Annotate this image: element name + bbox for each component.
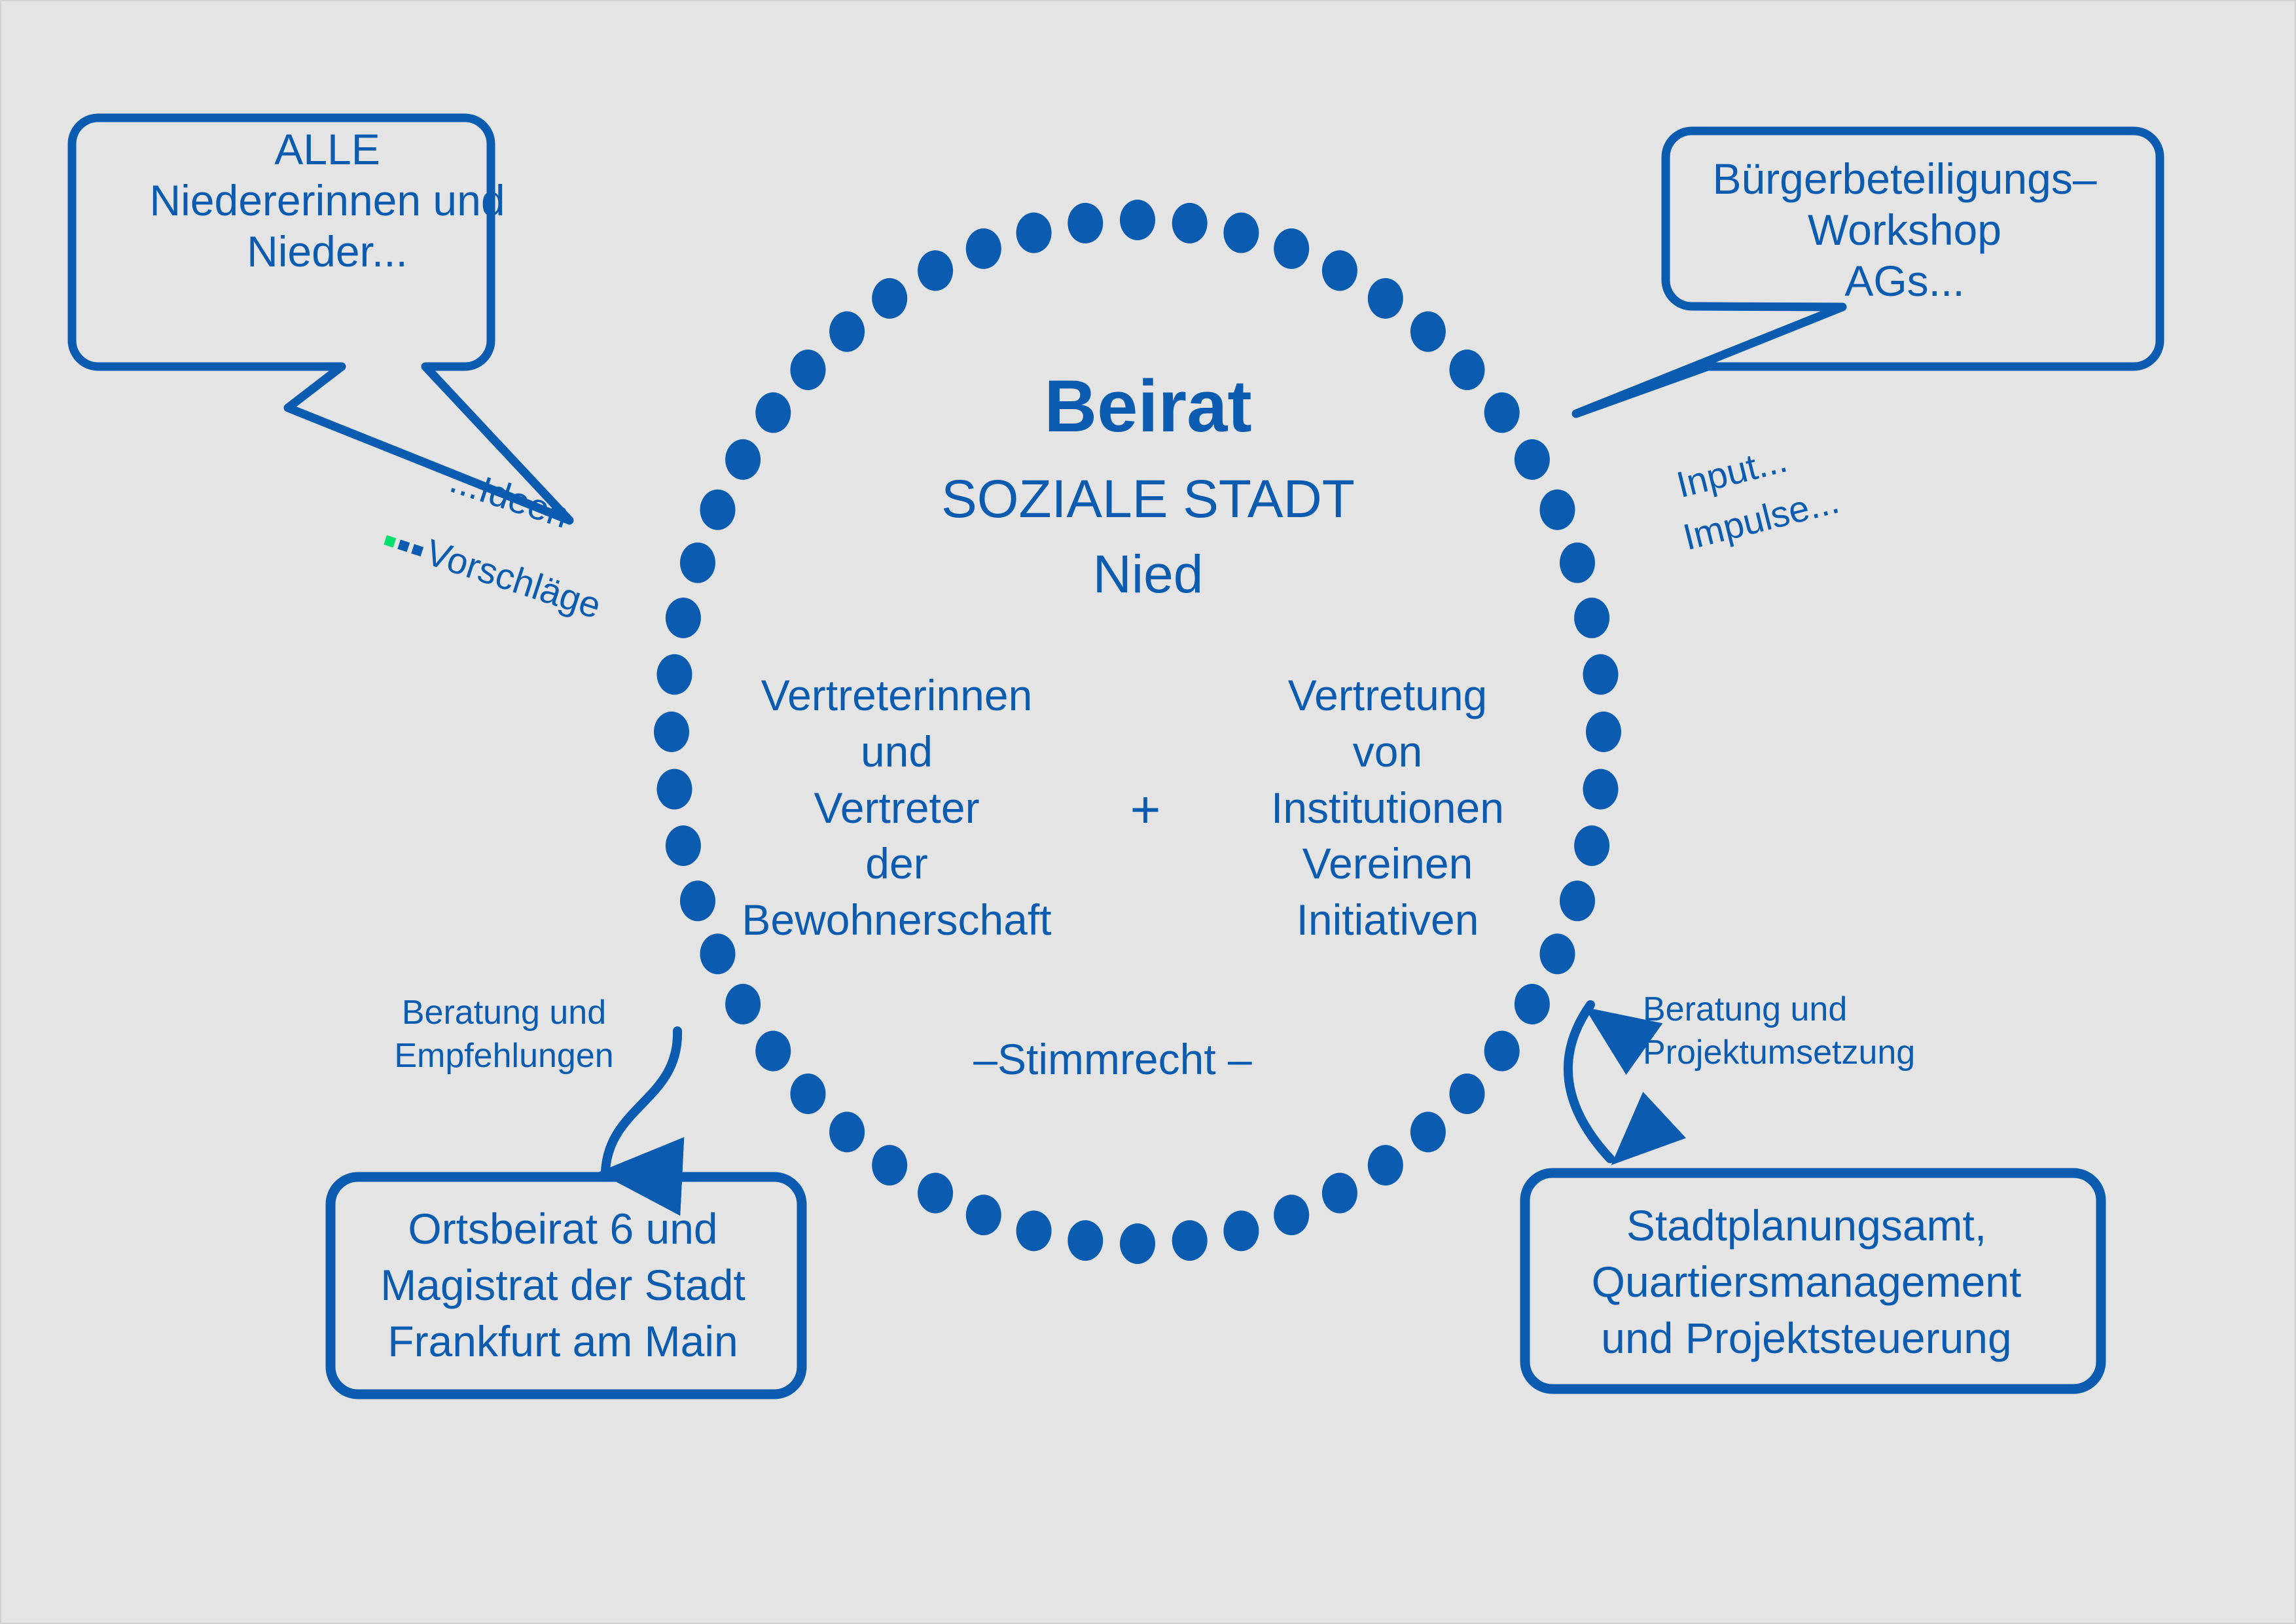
speech-bubble-right-label: Bürgerbeteiligungs– Workshop AGs...: [1676, 154, 2134, 307]
blue-dot-icon-2: [411, 544, 423, 556]
green-dot-icon: [384, 535, 396, 548]
diagram-canvas: ALLE Niedererinnen und Nieder... Bürgerb…: [0, 0, 2296, 1624]
label-beratung-empfehlungen: Beratung und Empfehlungen: [367, 992, 641, 1077]
speech-bubble-left-label: ALLE Niedererinnen und Nieder...: [92, 124, 563, 278]
center-left-column: Vertreterinnen und Vertreter der Bewohne…: [694, 668, 1100, 948]
box-ortsbeirat-label: Ortsbeirat 6 und Magistrat der Stadt Fra…: [327, 1201, 798, 1369]
arrow-beratung-projektumsetzung: [1568, 1005, 1610, 1159]
label-beratung-projektumsetzung: Beratung und Projektumsetzung: [1643, 988, 1950, 1074]
box-stadtplanungsamt-label: Stadtplanungsamt, Quartiersmanagement un…: [1525, 1198, 2088, 1366]
center-footer-stimmrecht: –Stimmrecht –: [870, 1034, 1355, 1085]
page-title: Beirat: [821, 363, 1475, 450]
center-subtitle: SOZIALE STADT: [821, 468, 1475, 532]
center-right-column: Vertretung von Institutionen Vereinen In…: [1185, 668, 1590, 948]
blue-dot-icon-1: [397, 540, 410, 552]
center-location: Nied: [821, 543, 1475, 607]
